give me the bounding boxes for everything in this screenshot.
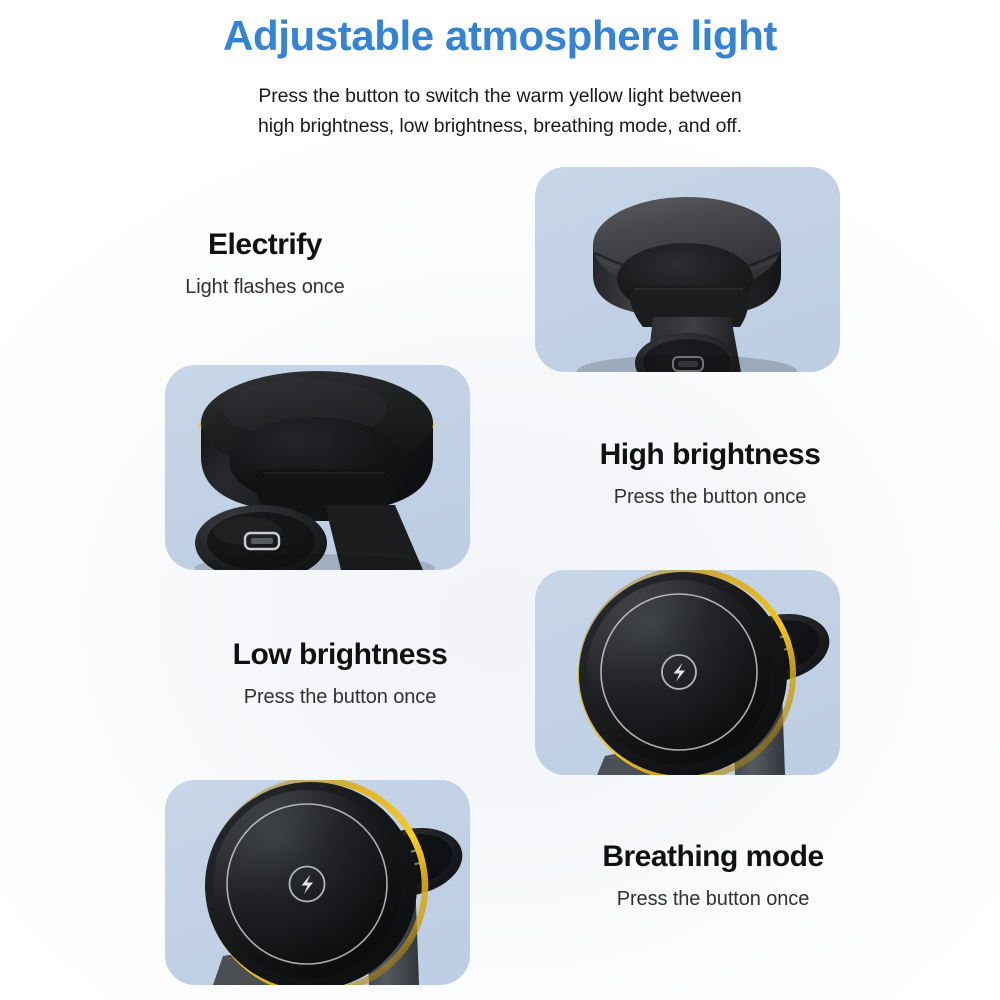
step-label-high-brightness: High brightness Press the button once [500,438,920,509]
step-heading: Electrify [0,228,530,263]
photo-card-high-brightness [165,365,470,570]
step-subtext: Press the button once [30,685,650,709]
subtitle-line-1: Press the button to switch the warm yell… [0,81,1000,111]
page-title: Adjustable atmosphere light [0,12,1000,59]
step-label-electrify: Electrify Light flashes once [0,228,530,299]
infographic-page: Adjustable atmosphere light Press the bu… [0,0,1000,1000]
step-heading: Low brightness [30,638,650,673]
step-subtext: Press the button once [498,887,928,911]
step-subtext: Press the button once [500,485,920,509]
step-heading: High brightness [500,438,920,473]
subtitle-line-2: high brightness, low brightness, breathi… [0,111,1000,141]
step-label-low-brightness: Low brightness Press the button once [30,638,650,709]
header: Adjustable atmosphere light Press the bu… [0,0,1000,141]
page-subtitle: Press the button to switch the warm yell… [0,81,1000,141]
step-label-breathing-mode: Breathing mode Press the button once [498,840,928,911]
step-subtext: Light flashes once [0,275,530,299]
step-heading: Breathing mode [498,840,928,875]
photo-card-electrify [535,167,840,372]
photo-card-breathing-mode [165,780,470,985]
